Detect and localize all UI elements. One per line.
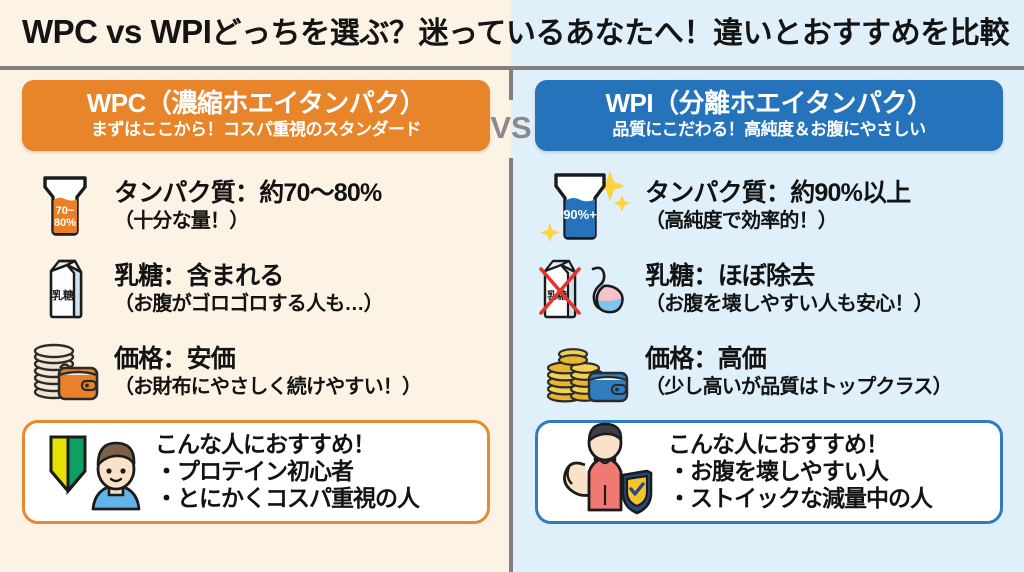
wpc-row-price: 価格：安価 （お財布にやさしく続けやすい！） [22, 331, 490, 414]
wpi-recommend-text: こんな人におすすめ！ ・お腹を壊しやすい人 ・ストイックな減量中の人 [666, 431, 990, 512]
wpi-header-title: WPI（分離ホエイタンパク） [545, 89, 993, 118]
column-divider-lower [509, 158, 513, 572]
wpi-header-pill: WPI（分離ホエイタンパク） 品質にこだわる！高純度＆お腹にやさしい [535, 80, 1003, 151]
wpi-recommend-head: こんな人におすすめ！ [668, 431, 990, 458]
wpi-price-sub: （少し高いが品質はトップクラス） [645, 375, 1003, 399]
milk-carton-icon: 乳糖 [22, 255, 108, 323]
beginner-badge-person-icon [37, 429, 153, 515]
wpc-header-pill: WPC（濃縮ホエイタンパク） まずはここから！コスパ重視のスタンダード [22, 80, 490, 151]
title-bar: WPC vs WPIどっちを選ぶ？迷っているあなたへ！違いとおすすめを比較 [0, 0, 1024, 64]
wpc-protein-sub: （十分な量！） [114, 209, 490, 233]
wpc-row-price-text: 価格：安価 （お財布にやさしく続けやすい！） [108, 345, 490, 399]
wpi-row-price: 価格：高価 （少し高いが品質はトップクラス） [535, 331, 1003, 414]
wpi-row-lactose-text: 乳糖：ほぼ除去 （お腹を壊しやすい人も安心！） [639, 262, 1003, 316]
beaker-orange-value-bottom: 80% [54, 217, 76, 229]
wpc-feature-list: 70~ 80% タンパク質：約70〜80% （十分な量！） [22, 165, 490, 414]
wpc-recommend-item-1: ・プロテイン初心者 [155, 458, 477, 485]
beaker-blue-value: 90%+ [563, 207, 597, 222]
wpc-price-main: 価格：安価 [114, 345, 490, 374]
wpc-row-protein: 70~ 80% タンパク質：約70〜80% （十分な量！） [22, 165, 490, 248]
wpc-recommend-text: こんな人におすすめ！ ・プロテイン初心者 ・とにかくコスパ重視の人 [153, 431, 477, 512]
beaker-orange-icon: 70~ 80% [22, 173, 108, 239]
beaker-blue-sparkle-icon: 90%+ [535, 167, 639, 245]
beaker-orange-value-top: 70~ [56, 205, 75, 217]
wpc-column: WPC（濃縮ホエイタンパク） まずはここから！コスパ重視のスタンダード 70~ … [22, 80, 490, 524]
wpi-recommend-item-2: ・ストイックな減量中の人 [668, 485, 990, 512]
milk-carton-label: 乳糖 [52, 288, 74, 302]
wpi-header-subtitle: 品質にこだわる！高純度＆お腹にやさしい [545, 120, 993, 140]
wpi-row-lactose: 乳糖 乳糖：ほぼ除去 （お腹を壊しやすい人も安心！） [535, 248, 1003, 331]
page-title-rest: どっちを選ぶ？迷っているあなたへ！違いとおすすめを比較 [211, 17, 1009, 50]
wpc-lactose-main: 乳糖：含まれる [114, 262, 490, 291]
page-title: WPC vs WPIどっちを選ぶ？迷っているあなたへ！違いとおすすめを比較 [0, 15, 1009, 49]
wpi-recommend-item-1: ・お腹を壊しやすい人 [668, 458, 990, 485]
wpi-column: WPI（分離ホエイタンパク） 品質にこだわる！高純度＆お腹にやさしい 90%+ [535, 80, 1003, 524]
wpc-protein-main: タンパク質：約70〜80% [114, 179, 490, 208]
wpi-lactose-sub: （お腹を壊しやすい人も安心！） [645, 292, 1003, 316]
wpi-protein-sub: （高純度で効率的！） [645, 209, 1003, 233]
wpi-row-price-text: 価格：高価 （少し高いが品質はトップクラス） [639, 345, 1003, 399]
wpc-row-protein-text: タンパク質：約70〜80% （十分な量！） [108, 179, 490, 233]
wpc-recommend-box: こんな人におすすめ！ ・プロテイン初心者 ・とにかくコスパ重視の人 [22, 420, 490, 524]
wpi-row-protein: 90%+ タンパク質：約90%以上 （高純度で効率的！） [535, 165, 1003, 248]
coins-wallet-orange-icon [22, 341, 108, 403]
page-title-lead: WPC vs WPI [22, 13, 211, 50]
wpi-row-protein-text: タンパク質：約90%以上 （高純度で効率的！） [639, 179, 1003, 233]
infographic-canvas: WPC vs WPIどっちを選ぶ？迷っているあなたへ！違いとおすすめを比較 VS… [0, 0, 1024, 572]
muscle-person-shield-icon [550, 427, 666, 517]
wpi-lactose-main: 乳糖：ほぼ除去 [645, 262, 1003, 291]
milk-carton-crossed-stomach-icon: 乳糖 [535, 253, 639, 325]
wpc-price-sub: （お財布にやさしく続けやすい！） [114, 375, 490, 399]
vs-label: VS [482, 112, 540, 143]
wpi-protein-main: タンパク質：約90%以上 [645, 179, 1003, 208]
wpc-recommend-item-2: ・とにかくコスパ重視の人 [155, 485, 477, 512]
wpi-recommend-box: こんな人におすすめ！ ・お腹を壊しやすい人 ・ストイックな減量中の人 [535, 420, 1003, 524]
wpi-feature-list: 90%+ タンパク質：約90%以上 （高純度で効率的！） 乳糖 [535, 165, 1003, 414]
wpc-row-lactose-text: 乳糖：含まれる （お腹がゴロゴロする人も…） [108, 262, 490, 316]
wpi-price-main: 価格：高価 [645, 345, 1003, 374]
wpc-row-lactose: 乳糖 乳糖：含まれる （お腹がゴロゴロする人も…） [22, 248, 490, 331]
column-divider-upper [509, 70, 513, 100]
wpc-recommend-head: こんな人におすすめ！ [155, 431, 477, 458]
wpc-header-title: WPC（濃縮ホエイタンパク） [32, 89, 480, 118]
wpc-lactose-sub: （お腹がゴロゴロする人も…） [114, 292, 490, 316]
wpc-header-subtitle: まずはここから！コスパ重視のスタンダード [32, 120, 480, 140]
coins-wallet-blue-icon [535, 340, 639, 404]
